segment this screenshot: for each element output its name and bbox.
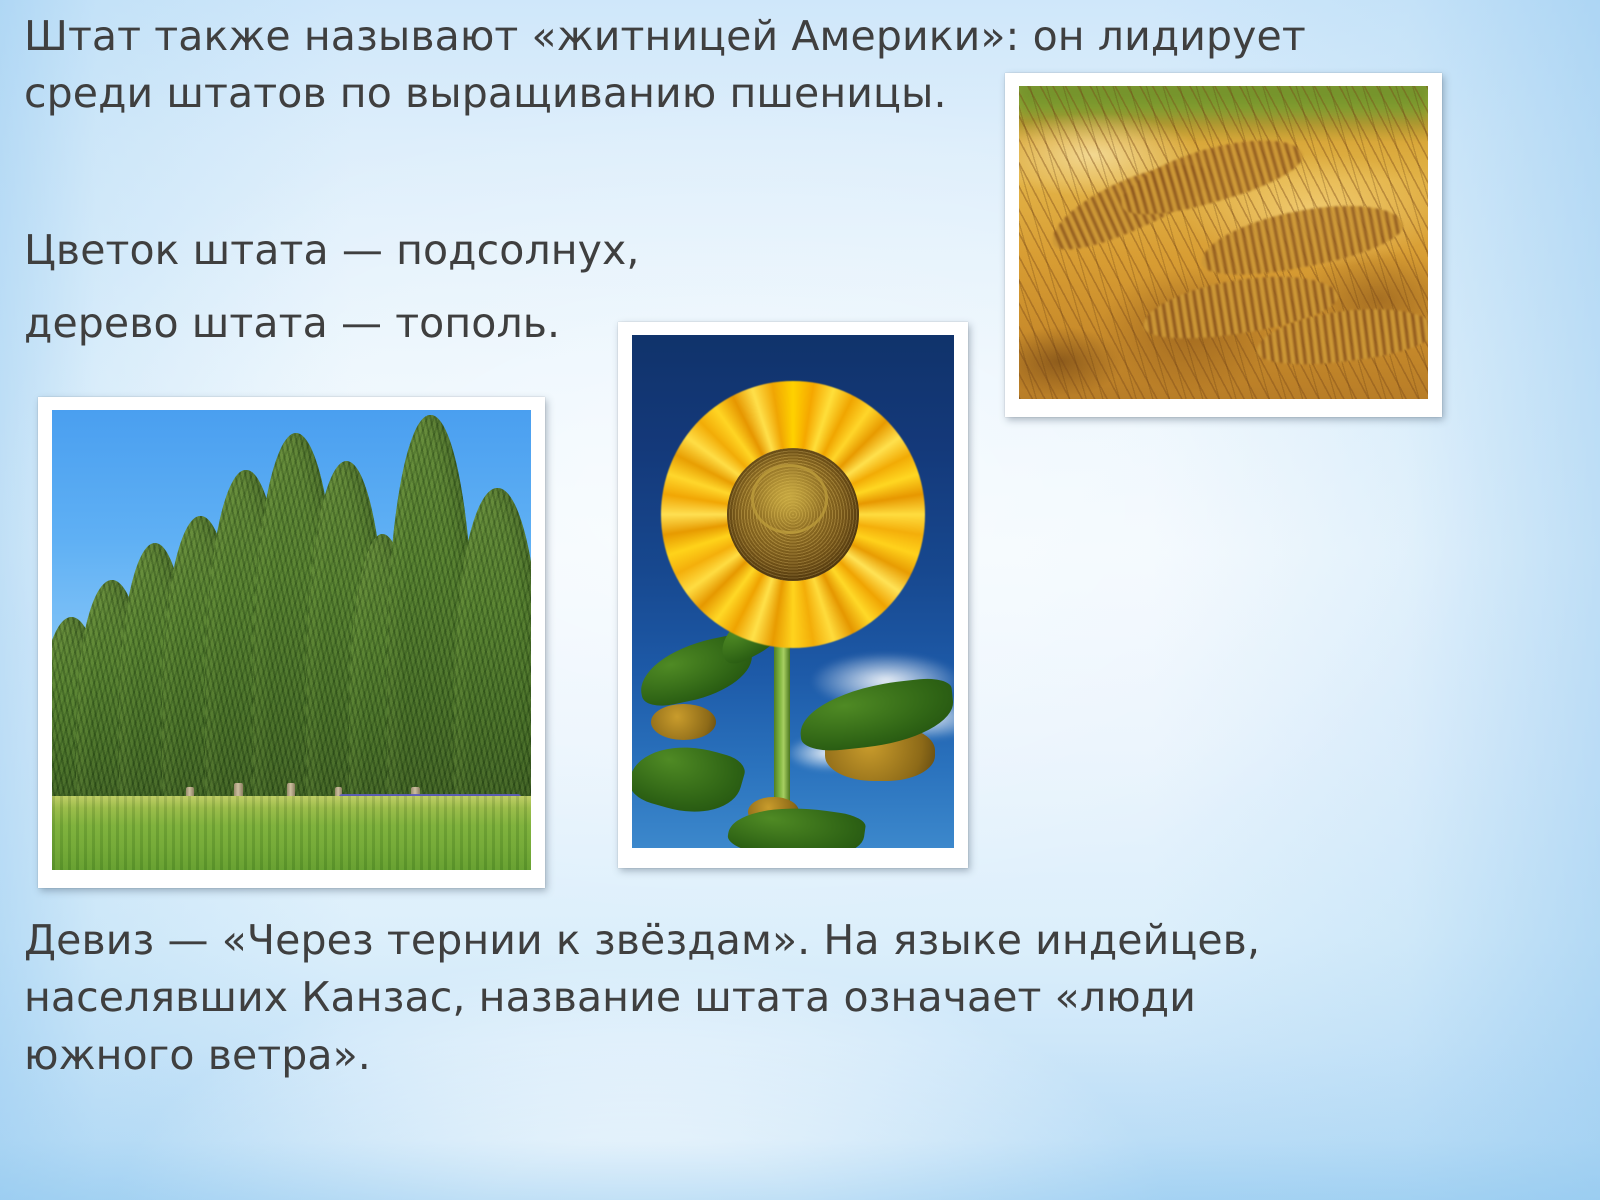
sunflower-bud <box>651 704 715 740</box>
state-flower-line: Цветок штата — подсолнух, <box>24 222 664 279</box>
grass-texture <box>52 796 531 870</box>
wheat-photo-frame[interactable] <box>1005 73 1442 417</box>
sunflower-photo <box>632 335 954 848</box>
poplar-photo <box>52 410 531 870</box>
slide-canvas: Штат также называют «житницей Америки»: … <box>0 0 1600 1200</box>
sunflower-head <box>661 381 925 648</box>
sunflower-disc-ring <box>751 464 828 534</box>
poplar-photo-frame[interactable] <box>38 397 545 888</box>
wheat-photo <box>1019 86 1428 399</box>
state-tree-line: дерево штата — тополь. <box>24 295 664 352</box>
sunflower-disc <box>727 448 859 581</box>
sunflower-photo-frame[interactable] <box>618 322 968 868</box>
state-motto-paragraph: Девиз — «Через тернии к звёздам». На язы… <box>24 912 1344 1084</box>
poplar-meadow <box>52 796 531 870</box>
